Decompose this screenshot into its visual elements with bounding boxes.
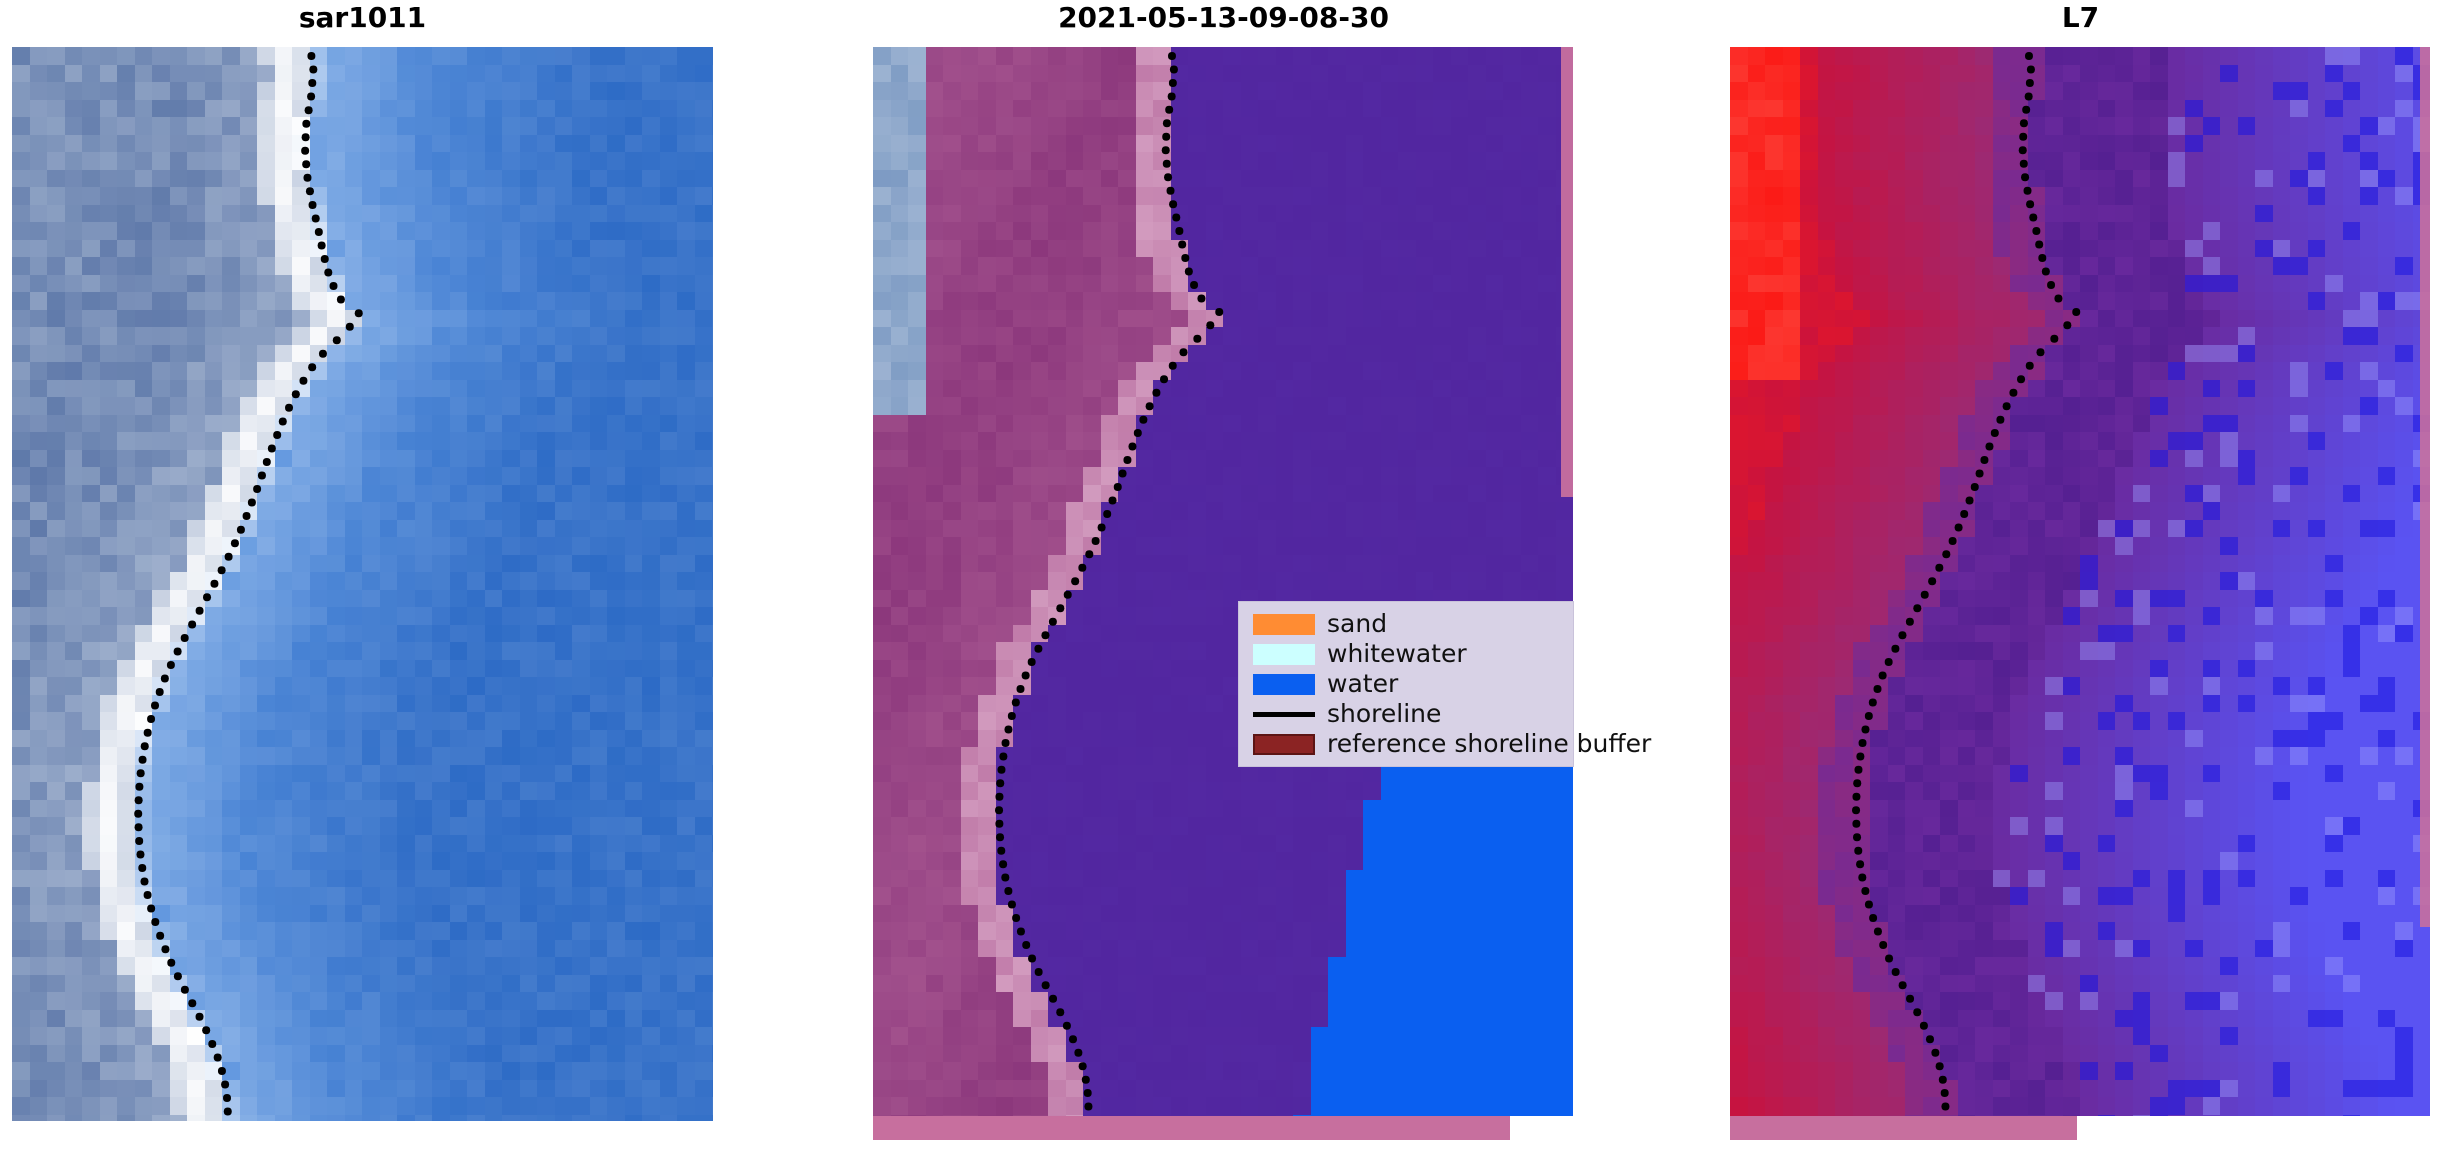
panel-classified-image <box>873 47 1573 1140</box>
legend-item-shoreline: shoreline <box>1247 699 1563 729</box>
sand-swatch-icon <box>1247 614 1321 635</box>
legend-label-sand: sand <box>1321 609 1387 639</box>
legend-item-sand: sand <box>1247 609 1563 639</box>
panel-classified-title: 2021-05-13-09-08-30 <box>861 3 1586 33</box>
legend-label-shoreline: shoreline <box>1321 699 1441 729</box>
panel-sar-title: sar1011 <box>0 3 725 33</box>
panel-sar: sar1011 <box>0 0 725 1149</box>
legend-label-reference-shoreline-buffer: reference shoreline buffer <box>1321 729 1651 759</box>
water-swatch-icon <box>1247 674 1321 695</box>
legend-item-whitewater: whitewater <box>1247 639 1563 669</box>
panel-l7-image <box>1730 47 2430 1140</box>
legend-item-water: water <box>1247 669 1563 699</box>
shoreline-line-icon <box>1247 712 1321 717</box>
panel-l7: L7 <box>1718 0 2443 1149</box>
figure-root: sar1011 2021-05-13-09-08-30 sand whitewa… <box>0 0 2460 1149</box>
panel-classified: 2021-05-13-09-08-30 sand whitewater <box>861 0 1586 1149</box>
panel-sar-image <box>12 47 713 1121</box>
panel-l7-title: L7 <box>1718 3 2443 33</box>
legend-label-water: water <box>1321 669 1398 699</box>
legend-item-reference-shoreline-buffer: reference shoreline buffer <box>1247 729 1563 759</box>
whitewater-swatch-icon <box>1247 644 1321 665</box>
reference-buffer-swatch-icon <box>1247 734 1321 755</box>
legend-label-whitewater: whitewater <box>1321 639 1467 669</box>
legend: sand whitewater water shoreline <box>1238 601 1574 767</box>
